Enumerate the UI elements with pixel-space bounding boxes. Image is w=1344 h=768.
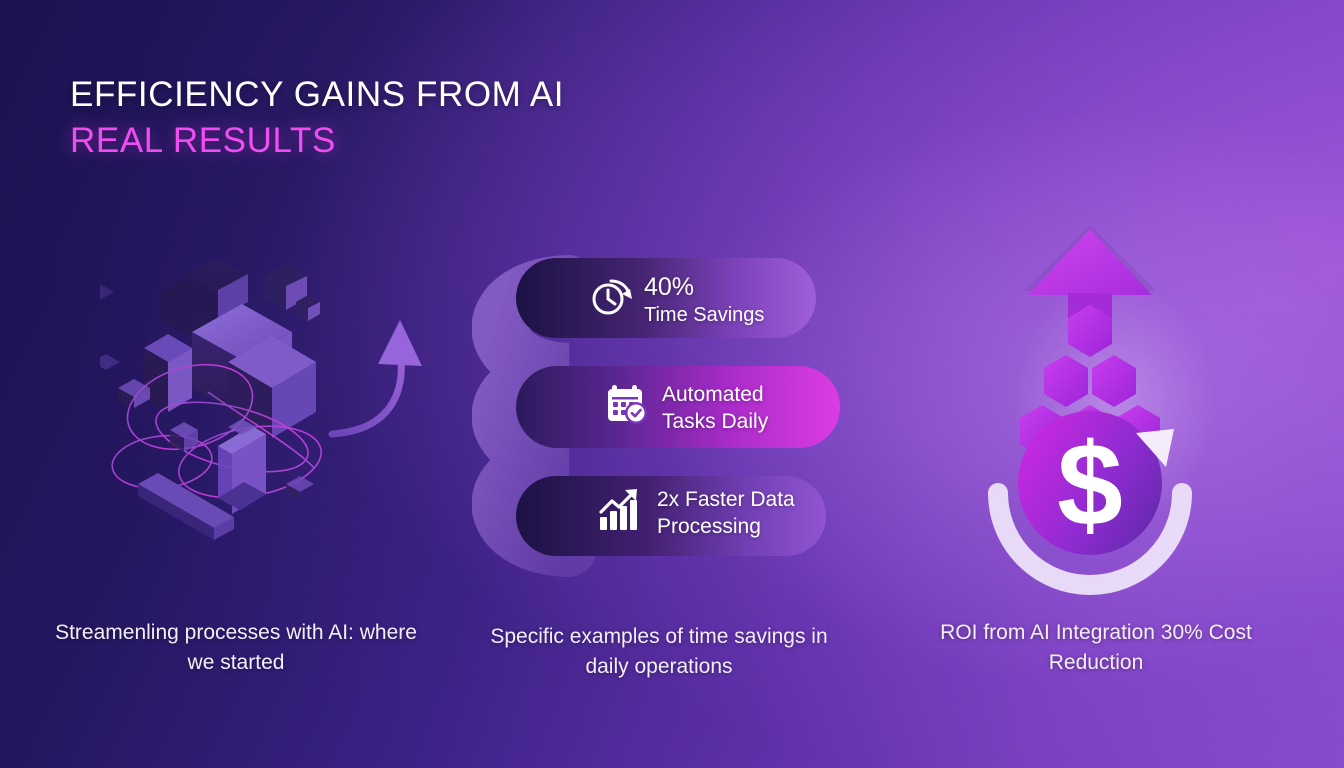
- curved-arrow-icon: [332, 320, 422, 434]
- pill-card-1-text: 40% Time Savings: [644, 273, 764, 329]
- pill-1-value: 40%: [644, 273, 764, 302]
- pill-cards-group: 40% Time Savings Automated Tasks Daily 2…: [472, 248, 872, 578]
- pill-2-label: Tasks Daily: [662, 408, 768, 435]
- pill-2-value: Automated: [662, 381, 768, 408]
- cube-front: [218, 426, 266, 514]
- pill-3-label: Processing: [657, 513, 795, 540]
- pill-3-value: 2x Faster Data: [657, 486, 795, 513]
- pill-1-label: Time Savings: [644, 302, 764, 329]
- slide-canvas: EFFICIENCY GAINS FROM AI REAL RESULTS: [0, 0, 1344, 768]
- caption-middle: Specific examples of time savings in dai…: [468, 622, 850, 682]
- caption-right: ROI from AI Integration 30% Cost Reducti…: [920, 618, 1272, 678]
- isometric-cubes-illustration: [100, 262, 430, 562]
- up-arrow-icon: [1028, 229, 1152, 357]
- pill-card-3-text: 2x Faster Data Processing: [657, 486, 795, 540]
- roi-illustration: $: [960, 205, 1260, 595]
- title-line-accent: REAL RESULTS: [70, 118, 564, 164]
- caption-left: Streamenling processes with AI: where we…: [46, 618, 426, 678]
- page-title: EFFICIENCY GAINS FROM AI REAL RESULTS: [70, 72, 564, 164]
- dollar-symbol: $: [1057, 419, 1123, 551]
- title-line-primary: EFFICIENCY GAINS FROM AI: [70, 72, 564, 118]
- pill-card-2-text: Automated Tasks Daily: [662, 381, 768, 435]
